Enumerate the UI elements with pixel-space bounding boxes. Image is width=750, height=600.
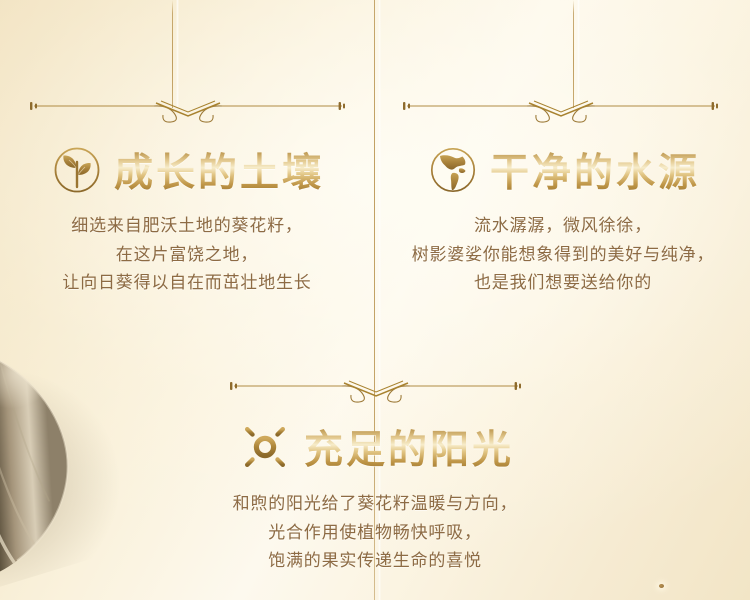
sprout-circle-icon (50, 143, 104, 197)
divider-ornament-top-right (401, 92, 721, 122)
feature-title-soil: 成长的土壤 (114, 142, 324, 198)
sun-icon (236, 418, 294, 476)
feature-heading-soil: 成长的土壤 (0, 142, 374, 198)
vertical-rule-left (172, 0, 173, 108)
divider-ornament-top-left (28, 92, 348, 122)
product-feature-banner: 成长的土壤 细选来自肥沃土地的葵花籽， 在这片富饶之地， 让向日葵得以自在而茁壮… (0, 0, 750, 600)
feature-body-line: 让向日葵得以自在而茁壮地生长 (0, 269, 374, 297)
feature-body-line: 也是我们想要送给你的 (376, 269, 750, 297)
feature-block-water: 干净的水源 流水潺潺，微风徐徐， 树影婆娑你能想象得到的美好与纯净， 也是我们想… (376, 142, 750, 298)
vertical-rule-left-highlight (176, 0, 179, 108)
decorative-speck (659, 584, 664, 588)
feature-heading-water: 干净的水源 (376, 142, 750, 198)
feature-body-line: 在这片富饶之地， (0, 241, 374, 269)
vertical-rule-right-highlight (577, 0, 580, 108)
feature-body-line: 流水潺潺，微风徐徐， (376, 212, 750, 240)
feature-block-soil: 成长的土壤 细选来自肥沃土地的葵花籽， 在这片富饶之地， 让向日葵得以自在而茁壮… (0, 142, 374, 298)
divider-ornament-bottom (228, 372, 524, 402)
feature-title-sunlight: 充足的阳光 (304, 419, 514, 475)
feature-body-line: 细选来自肥沃土地的葵花籽， (0, 212, 374, 240)
vertical-rule-right (573, 0, 574, 108)
feature-body-line: 树影婆娑你能想象得到的美好与纯净， (376, 241, 750, 269)
feature-body-soil: 细选来自肥沃土地的葵花籽， 在这片富饶之地， 让向日葵得以自在而茁壮地生长 (0, 212, 374, 297)
globe-icon (426, 143, 480, 197)
feature-body-water: 流水潺潺，微风徐徐， 树影婆娑你能想象得到的美好与纯净， 也是我们想要送给你的 (376, 212, 750, 297)
feature-title-water: 干净的水源 (490, 142, 700, 198)
